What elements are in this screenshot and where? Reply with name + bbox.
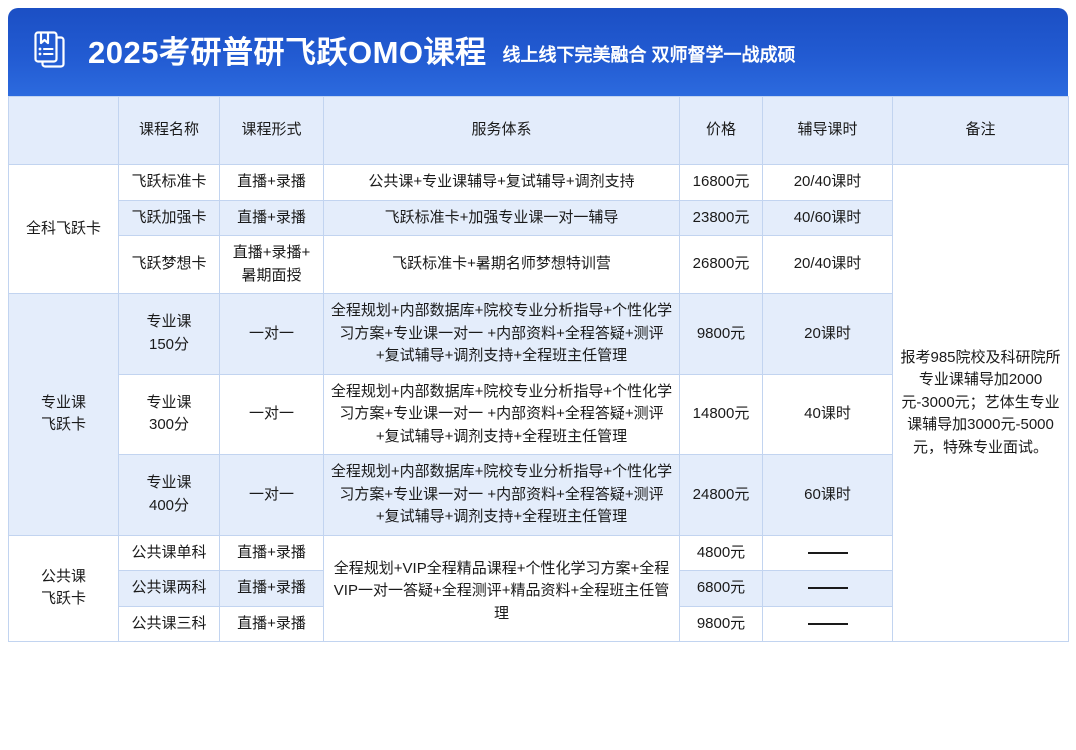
course-table-wrap: 课程名称 课程形式 服务体系 价格 辅导课时 备注 全科飞跃卡 飞跃标准卡 直播…: [8, 96, 1068, 642]
course-form: 直播+录播+ 暑期面授: [220, 236, 324, 294]
course-service: 飞跃标准卡+加强专业课一对一辅导: [324, 200, 680, 236]
column-header-hours: 辅导课时: [763, 97, 893, 165]
table-body: 全科飞跃卡 飞跃标准卡 直播+录播 公共课+专业课辅导+复试辅导+调剂支持 16…: [9, 165, 1069, 642]
column-header-note: 备注: [893, 97, 1069, 165]
course-service: 全程规划+内部数据库+院校专业分析指导+个性化学习方案+专业课一对一 +内部资料…: [324, 455, 680, 536]
course-service: 公共课+专业课辅导+复试辅导+调剂支持: [324, 165, 680, 201]
course-price: 26800元: [680, 236, 763, 294]
course-name: 飞跃梦想卡: [119, 236, 220, 294]
course-name: 公共课三科: [119, 606, 220, 642]
course-price: 9800元: [680, 606, 763, 642]
course-price: 14800元: [680, 374, 763, 455]
dash-placeholder-icon: [808, 587, 848, 589]
course-hours: [763, 606, 893, 642]
course-form: 直播+录播: [220, 571, 324, 607]
page-root: 2025考研普研飞跃OMO课程 线上线下完美融合 双师督学一战成硕 课程名称 课…: [0, 8, 1076, 750]
banner-title: 2025考研普研飞跃OMO课程: [88, 37, 487, 68]
course-hours: [763, 535, 893, 571]
course-pricing-table: 课程名称 课程形式 服务体系 价格 辅导课时 备注 全科飞跃卡 飞跃标准卡 直播…: [8, 96, 1069, 642]
course-name: 专业课 300分: [119, 374, 220, 455]
column-header-name: 课程名称: [119, 97, 220, 165]
column-header-price: 价格: [680, 97, 763, 165]
course-form: 直播+录播: [220, 535, 324, 571]
group-label-zhuanyeke: 专业课 飞跃卡: [9, 294, 119, 536]
course-price: 24800元: [680, 455, 763, 536]
group-label-quanke: 全科飞跃卡: [9, 165, 119, 294]
table-header-row: 课程名称 课程形式 服务体系 价格 辅导课时 备注: [9, 97, 1069, 165]
course-form: 直播+录播: [220, 200, 324, 236]
course-name: 专业课 400分: [119, 455, 220, 536]
remarks-cell: 报考985院校及科研院所专业课辅导加2000元-3000元；艺体生专业课辅导加3…: [893, 165, 1069, 642]
course-price: 23800元: [680, 200, 763, 236]
column-header-group: [9, 97, 119, 165]
course-form: 直播+录播: [220, 165, 324, 201]
dash-placeholder-icon: [808, 623, 848, 625]
course-price: 4800元: [680, 535, 763, 571]
course-service: 全程规划+内部数据库+院校专业分析指导+个性化学习方案+专业课一对一 +内部资料…: [324, 374, 680, 455]
course-hours: 20/40课时: [763, 236, 893, 294]
course-service-merged: 全程规划+VIP全程精品课程+个性化学习方案+全程VIP一对一答疑+全程测评+精…: [324, 535, 680, 642]
banner-subtitle: 线上线下完美融合 双师督学一战成硕: [503, 41, 796, 64]
course-service: 飞跃标准卡+暑期名师梦想特训营: [324, 236, 680, 294]
table-header: 课程名称 课程形式 服务体系 价格 辅导课时 备注: [9, 97, 1069, 165]
column-header-form: 课程形式: [220, 97, 324, 165]
course-form: 一对一: [220, 455, 324, 536]
dash-placeholder-icon: [808, 552, 848, 554]
course-form: 一对一: [220, 294, 324, 375]
course-hours: 40课时: [763, 374, 893, 455]
page-banner: 2025考研普研飞跃OMO课程 线上线下完美融合 双师督学一战成硕: [8, 8, 1068, 96]
group-label-gonggongke: 公共课 飞跃卡: [9, 535, 119, 642]
course-price: 16800元: [680, 165, 763, 201]
document-book-icon: [30, 29, 70, 75]
course-price: 6800元: [680, 571, 763, 607]
course-hours: [763, 571, 893, 607]
table-row: 全科飞跃卡 飞跃标准卡 直播+录播 公共课+专业课辅导+复试辅导+调剂支持 16…: [9, 165, 1069, 201]
course-hours: 20/40课时: [763, 165, 893, 201]
course-price: 9800元: [680, 294, 763, 375]
course-name: 公共课单科: [119, 535, 220, 571]
course-hours: 60课时: [763, 455, 893, 536]
course-form: 一对一: [220, 374, 324, 455]
course-name: 飞跃加强卡: [119, 200, 220, 236]
course-form: 直播+录播: [220, 606, 324, 642]
course-hours: 40/60课时: [763, 200, 893, 236]
course-service: 全程规划+内部数据库+院校专业分析指导+个性化学习方案+专业课一对一 +内部资料…: [324, 294, 680, 375]
course-name: 飞跃标准卡: [119, 165, 220, 201]
course-name: 专业课 150分: [119, 294, 220, 375]
course-hours: 20课时: [763, 294, 893, 375]
course-name: 公共课两科: [119, 571, 220, 607]
column-header-service: 服务体系: [324, 97, 680, 165]
